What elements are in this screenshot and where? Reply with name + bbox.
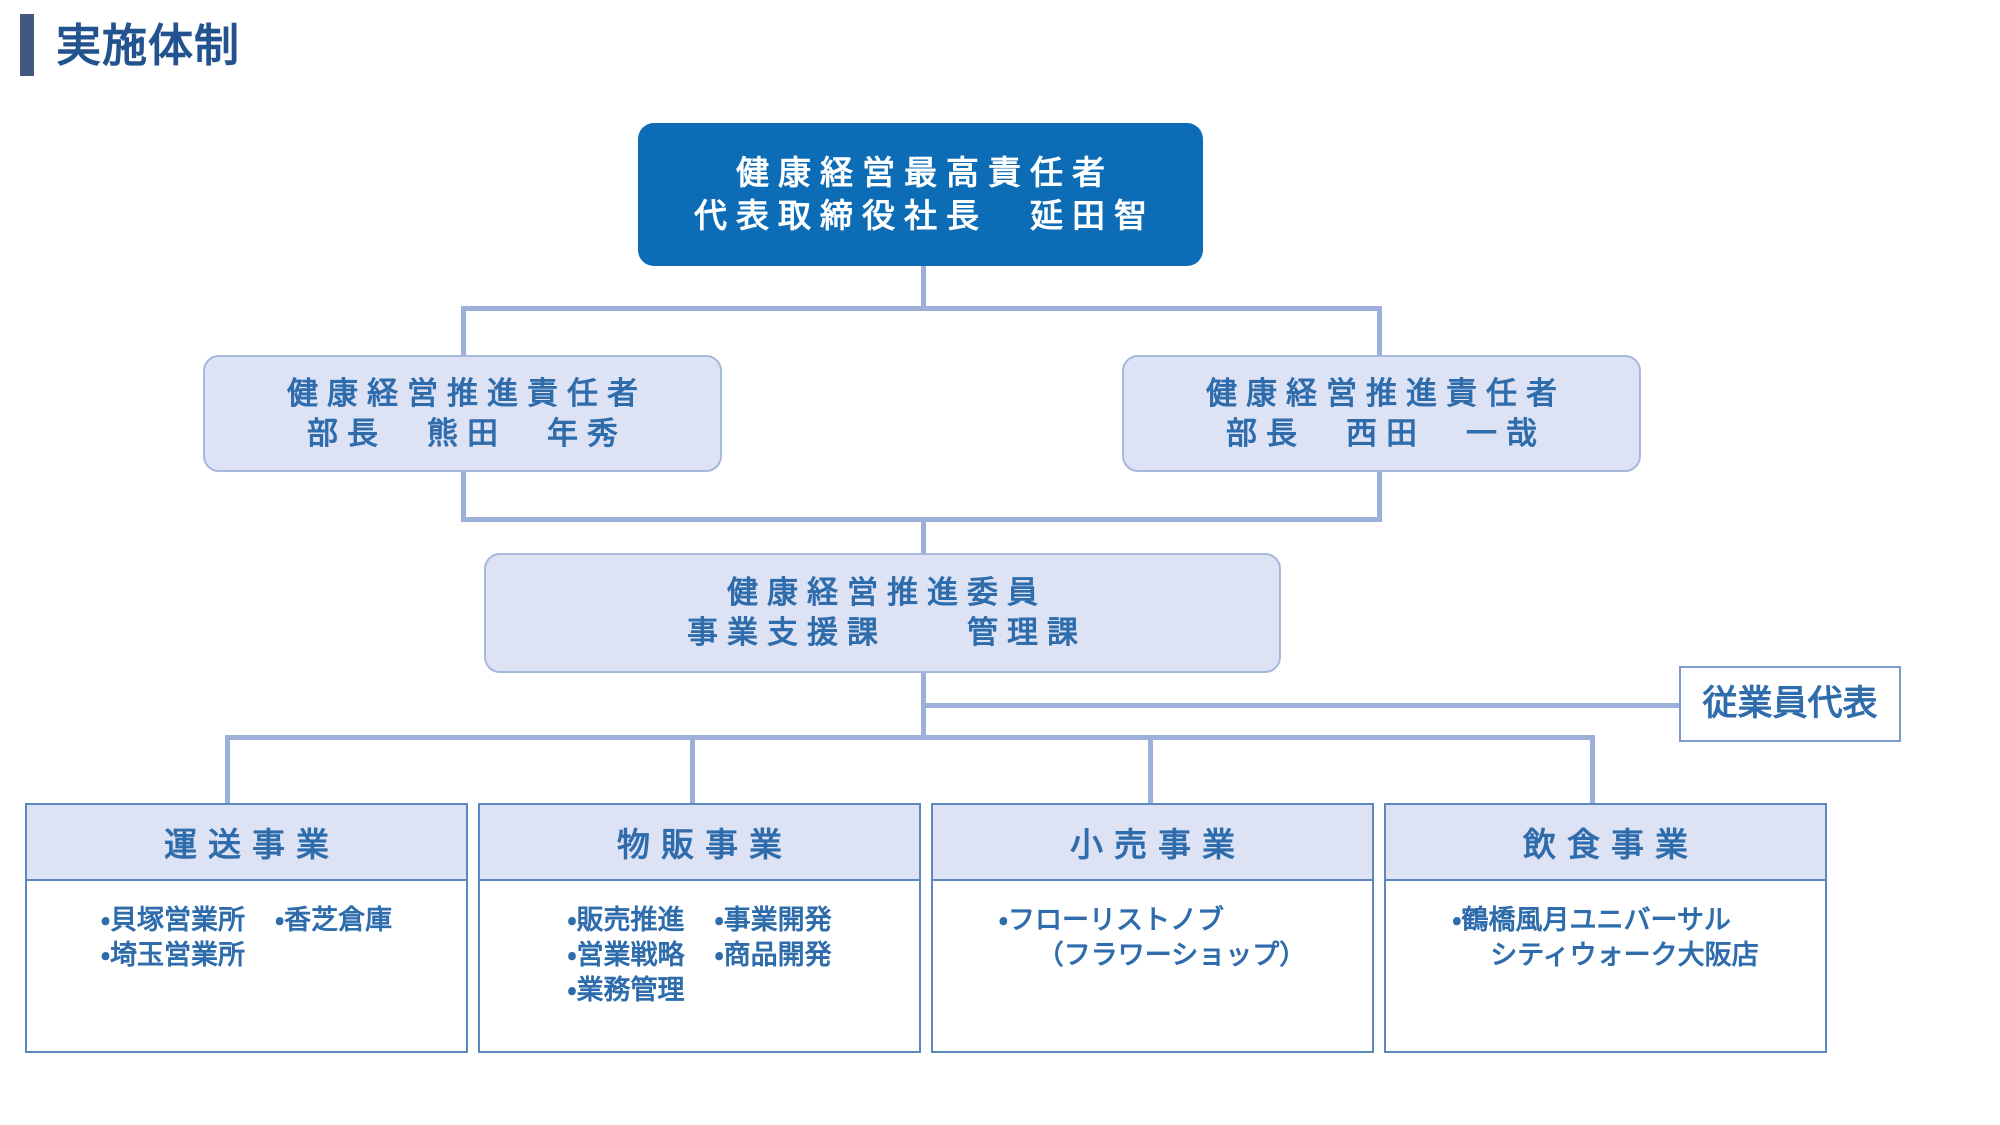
node-ceo[interactable]: 健康経営最高責任者 代表取締役社長 延田智 <box>638 123 1203 266</box>
node-committee[interactable]: 健康経営推進委員 事業支援課 管理課 <box>484 553 1281 673</box>
connector-committee-stem <box>921 517 926 555</box>
list-item: ・商品開発 <box>715 938 832 973</box>
connector-manager-left-bottom <box>461 471 466 521</box>
connector-division-retail-drop <box>1148 735 1153 805</box>
node-employee-representative-label: 従業員代表 <box>1702 682 1877 727</box>
page-title: 実施体制 <box>20 14 240 76</box>
division-card-transport[interactable]: 運送事業 ・貝塚営業所 ・埼玉営業所 ・香芝倉庫 <box>25 803 468 1053</box>
list-item: （フラワーショップ） <box>999 938 1306 973</box>
node-ceo-name: 代表取締役社長 延田智 <box>685 195 1156 237</box>
connector-managers-bus <box>461 306 1382 311</box>
connector-divisions-bus <box>225 735 1595 740</box>
list-item: ・貝塚営業所 <box>101 903 245 938</box>
list-item: ・事業開発 <box>715 903 832 938</box>
division-transport-column-1: ・貝塚営業所 ・埼玉営業所 <box>101 903 245 1051</box>
node-committee-departments: 事業支援課 管理課 <box>678 613 1087 653</box>
node-manager-right-role: 健康経営推進責任者 <box>1197 374 1566 414</box>
division-card-wholesale[interactable]: 物販事業 ・販売推進 ・営業戦略 ・業務管理 ・事業開発 ・商品開発 <box>478 803 921 1053</box>
division-card-retail[interactable]: 小売事業 ・フローリストノブ （フラワーショップ） <box>931 803 1374 1053</box>
division-header-wholesale: 物販事業 <box>480 805 919 881</box>
org-chart-slide: 実施体制 健康経営最高責任者 代表取締役社長 延田智 健康経営推進責任者 部長 … <box>0 0 2000 1125</box>
node-manager-left-name: 部長 熊田 年秀 <box>298 414 627 454</box>
node-ceo-role: 健康経営最高責任者 <box>727 152 1114 194</box>
division-body-wholesale: ・販売推進 ・営業戦略 ・業務管理 ・事業開発 ・商品開発 <box>480 881 919 1051</box>
division-header-food: 飲食事業 <box>1386 805 1825 881</box>
connector-division-wholesale-drop <box>690 735 695 805</box>
division-header-transport: 運送事業 <box>27 805 466 881</box>
list-item: ・フローリストノブ <box>999 903 1306 938</box>
division-header-retail: 小売事業 <box>933 805 1372 881</box>
connector-employee-rep <box>921 703 1681 708</box>
division-body-transport: ・貝塚営業所 ・埼玉営業所 ・香芝倉庫 <box>27 881 466 1051</box>
node-employee-representative[interactable]: 従業員代表 <box>1679 666 1901 742</box>
division-body-food: ・鶴橋風月ユニバーサル シティウォーク大阪店 <box>1386 881 1825 1051</box>
node-manager-right[interactable]: 健康経営推進責任者 部長 西田 一哉 <box>1122 355 1641 472</box>
connector-division-food-drop <box>1590 735 1595 805</box>
connector-manager-left-drop <box>461 306 466 358</box>
node-committee-role: 健康経営推進委員 <box>718 573 1047 613</box>
division-wholesale-column-1: ・販売推進 ・営業戦略 ・業務管理 <box>567 903 684 1051</box>
list-item: ・業務管理 <box>567 973 684 1008</box>
division-body-retail: ・フローリストノブ （フラワーショップ） <box>933 881 1372 1051</box>
division-food-column-1: ・鶴橋風月ユニバーサル シティウォーク大阪店 <box>1452 903 1758 1051</box>
division-wholesale-column-2: ・事業開発 ・商品開発 <box>715 903 832 1051</box>
list-item: ・埼玉営業所 <box>101 938 245 973</box>
connector-ceo-stem <box>921 265 926 310</box>
list-item: シティウォーク大阪店 <box>1452 938 1758 973</box>
connector-manager-right-drop <box>1377 306 1382 358</box>
division-transport-column-2: ・香芝倉庫 <box>275 903 392 1051</box>
page-title-text: 実施体制 <box>56 23 240 68</box>
connector-manager-right-bottom <box>1377 471 1382 521</box>
connector-division-transport-drop <box>225 735 230 805</box>
list-item: ・営業戦略 <box>567 938 684 973</box>
node-manager-left-role: 健康経営推進責任者 <box>278 374 647 414</box>
list-item: ・鶴橋風月ユニバーサル <box>1452 903 1758 938</box>
list-item: ・販売推進 <box>567 903 684 938</box>
node-manager-left[interactable]: 健康経営推進責任者 部長 熊田 年秀 <box>203 355 722 472</box>
title-accent-bar <box>20 14 34 76</box>
list-item: ・香芝倉庫 <box>275 903 392 938</box>
division-retail-column-1: ・フローリストノブ （フラワーショップ） <box>999 903 1306 1051</box>
node-manager-right-name: 部長 西田 一哉 <box>1217 414 1546 454</box>
division-card-food[interactable]: 飲食事業 ・鶴橋風月ユニバーサル シティウォーク大阪店 <box>1384 803 1827 1053</box>
